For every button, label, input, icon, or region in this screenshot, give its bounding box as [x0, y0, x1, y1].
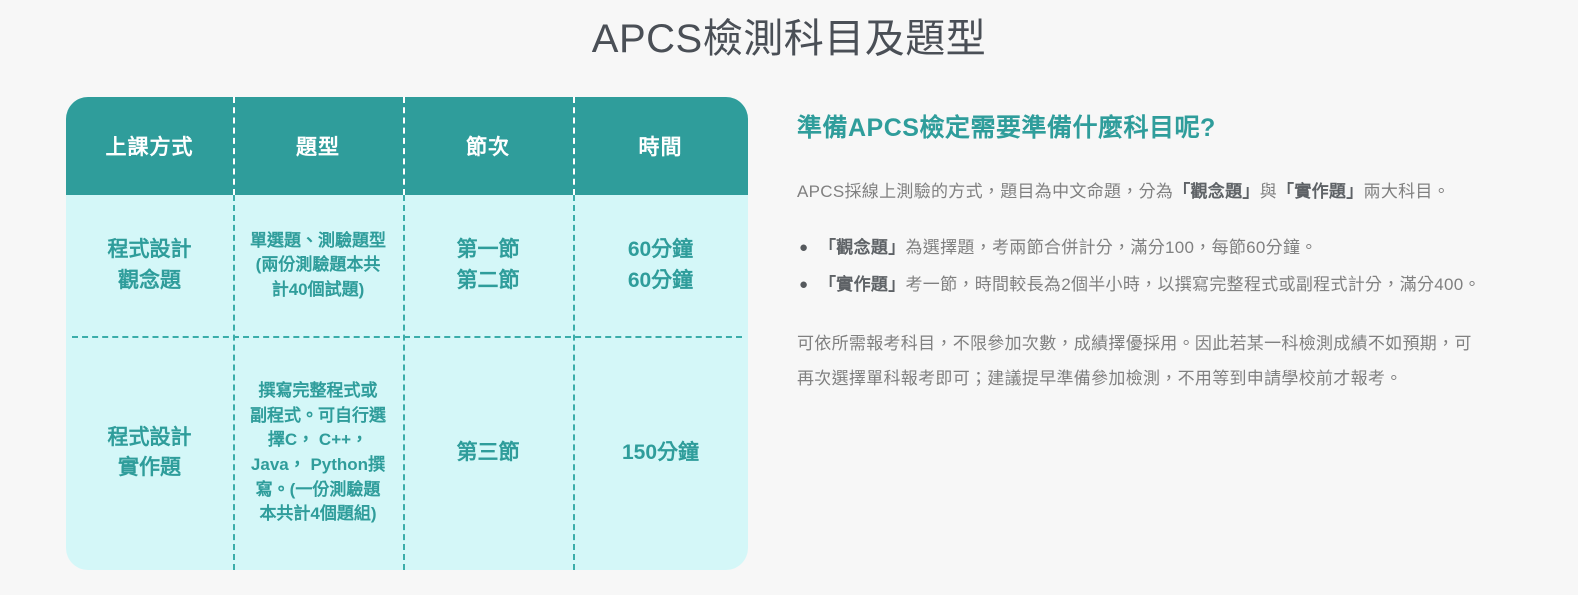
list-item: ●「實作題」考一節，時間較長為2個半小時，以撰寫完整程式或副程式計分，滿分400…	[797, 268, 1485, 303]
bullet-dot-icon: ●	[799, 231, 808, 264]
table-header-method: 上課方式	[66, 131, 233, 161]
table-row: 程式設計實作題 撰寫完整程式或副程式。可自行選擇C， C++，Java， Pyt…	[66, 336, 748, 570]
bullet-1-text: 為選擇題，考兩節合併計分，滿分100，每節60分鐘。	[906, 238, 1318, 257]
table-header-duration: 時間	[573, 131, 748, 161]
info-heading: 準備APCS檢定需要準備什麼科目呢?	[797, 112, 1485, 145]
info-panel: 準備APCS檢定需要準備什麼科目呢? APCS採線上測驗的方式，題目為中文命題，…	[797, 112, 1485, 397]
paragraph-1-part-1: APCS採線上測驗的方式，題目為中文命題，分為	[797, 182, 1173, 201]
cell-question-type-1: 單選題、測驗題型(兩份測驗題本共計40個試題)	[233, 229, 403, 303]
body-column-divider-2	[403, 195, 405, 570]
table-body: 程式設計觀念題 單選題、測驗題型(兩份測驗題本共計40個試題) 第一節第二節 6…	[66, 195, 748, 570]
cell-duration-2: 150分鐘	[573, 438, 748, 468]
cell-question-type-2: 撰寫完整程式或副程式。可自行選擇C， C++，Java， Python撰寫。(一…	[233, 379, 403, 527]
page-title: APCS檢測科目及題型	[0, 14, 1578, 64]
paragraph-1-part-2: 與	[1260, 182, 1277, 201]
cell-session-2: 第三節	[403, 438, 573, 468]
header-column-divider-1	[233, 97, 235, 195]
body-column-divider-3	[573, 195, 575, 570]
cell-method-2: 程式設計實作題	[66, 423, 233, 484]
paragraph-1-bold-1: 「觀念題」	[1173, 182, 1260, 201]
cell-method-1: 程式設計觀念題	[66, 235, 233, 296]
list-item: ●「觀念題」為選擇題，考兩節合併計分，滿分100，每節60分鐘。	[797, 231, 1485, 266]
header-column-divider-3	[573, 97, 575, 195]
body-row-divider	[72, 336, 742, 338]
bullet-2-bold: 「實作題」	[819, 275, 906, 294]
paragraph-1-bold-2: 「實作題」	[1277, 182, 1364, 201]
info-paragraph-1: APCS採線上測驗的方式，題目為中文命題，分為「觀念題」與「實作題」兩大科目。	[797, 175, 1485, 210]
paragraph-1-part-3: 兩大科目。	[1364, 182, 1451, 201]
info-paragraph-2: 可依所需報考科目，不限參加次數，成績擇優採用。因此若某一科檢測成績不如預期，可再…	[797, 327, 1485, 397]
bullet-dot-icon: ●	[799, 268, 808, 301]
cell-session-1: 第一節第二節	[403, 235, 573, 296]
apcs-subject-table: 上課方式 題型 節次 時間 程式設計觀念題 單選題、測驗題型(兩份測驗題本共計4…	[66, 97, 748, 570]
cell-duration-1: 60分鐘60分鐘	[573, 235, 748, 296]
table-header-row: 上課方式 題型 節次 時間	[66, 97, 748, 195]
bullet-1-bold: 「觀念題」	[819, 238, 906, 257]
bullet-2-text: 考一節，時間較長為2個半小時，以撰寫完整程式或副程式計分，滿分400。	[906, 275, 1481, 294]
body-column-divider-1	[233, 195, 235, 570]
table-row: 程式設計觀念題 單選題、測驗題型(兩份測驗題本共計40個試題) 第一節第二節 6…	[66, 195, 748, 336]
table-header-session: 節次	[403, 131, 573, 161]
info-bullet-list: ●「觀念題」為選擇題，考兩節合併計分，滿分100，每節60分鐘。 ●「實作題」考…	[797, 231, 1485, 303]
header-column-divider-2	[403, 97, 405, 195]
table-header-question-type: 題型	[233, 131, 403, 161]
